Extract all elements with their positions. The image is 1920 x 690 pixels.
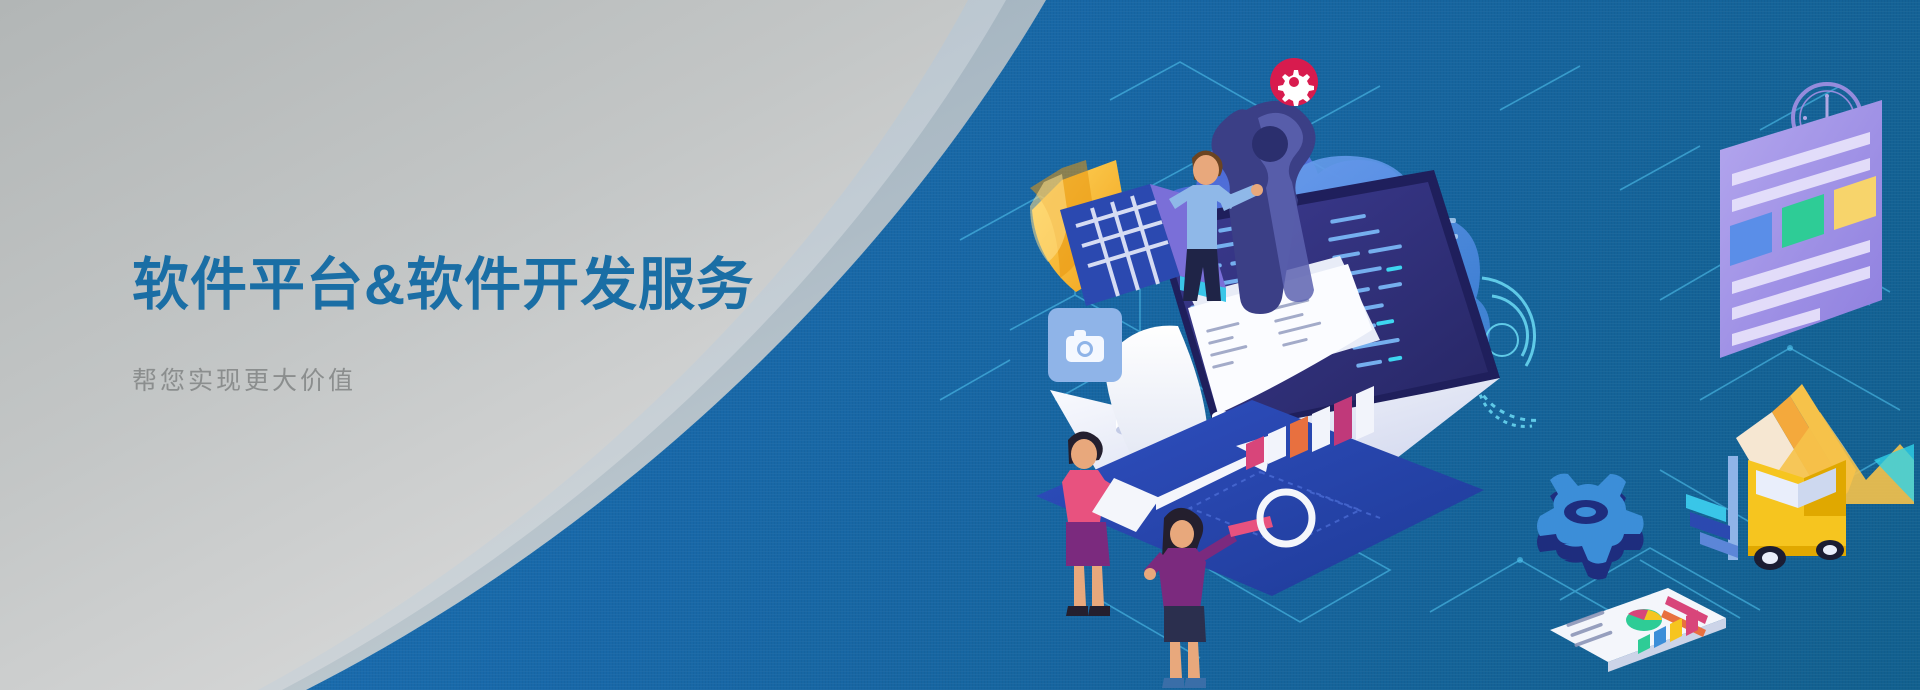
gear-badge-icon	[1270, 58, 1318, 106]
hero-copy: 软件平台&软件开发服务 帮您实现更大价值	[132, 252, 892, 397]
gear-stack-icon	[1537, 474, 1644, 580]
document-panel	[1720, 100, 1882, 358]
page-title: 软件平台&软件开发服务	[132, 252, 892, 319]
news-card-icon	[1550, 588, 1726, 672]
hero-banner: 软件平台&软件开发服务 帮您实现更大价值	[0, 0, 1920, 690]
forklift-icon	[1686, 456, 1846, 570]
page-subtitle: 帮您实现更大价值	[132, 361, 892, 397]
